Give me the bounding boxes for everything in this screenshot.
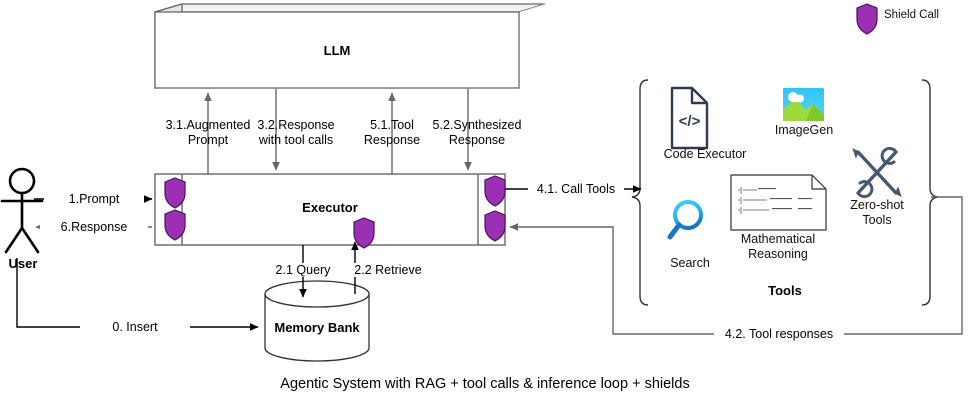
user-actor [2, 169, 42, 252]
code-document-icon: </> [672, 88, 707, 148]
tool-label-mathematical-reasoning-line2: Reasoning [718, 247, 838, 261]
llm-label: LLM [155, 43, 519, 58]
crossed-wrenches-icon [854, 148, 900, 196]
edge-insert [17, 258, 258, 327]
edge-label-synthesized-response-line2: Response [412, 133, 542, 147]
tool-label-zero-shot-tools-line2: Tools [837, 213, 917, 227]
diagram-caption: Agentic System with RAG + tool calls & i… [0, 376, 970, 392]
tool-label-search: Search [655, 256, 725, 270]
shield-legend-icon [857, 4, 877, 34]
tool-label-code-executor: Code Executor [646, 147, 764, 161]
diagram-canvas: </> [0, 0, 970, 411]
formula-document-icon [731, 175, 826, 230]
edge-label-prompt: 1.Prompt [44, 192, 144, 206]
tool-label-zero-shot-tools-line1: Zero-shot [837, 198, 917, 212]
edge-label-call-tools: 4.1. Call Tools [528, 182, 624, 196]
executor-label: Executor [182, 200, 478, 215]
tool-label-mathematical-reasoning-line1: Mathematical [718, 232, 838, 246]
edge-label-synthesized-response-line1: 5.2.Synthesized [412, 118, 542, 132]
tool-label-imagegen: ImageGen [763, 123, 845, 137]
edge-label-query: 2.1 Query [258, 263, 348, 277]
magnifier-icon [670, 202, 701, 237]
edge-label-insert: 0. Insert [80, 320, 190, 334]
edge-label-response: 6.Response [40, 220, 148, 234]
memory-bank-label: Memory Bank [265, 320, 369, 335]
legend-shield-label: Shield Call [884, 9, 939, 21]
svg-text:</>: </> [679, 113, 701, 130]
user-label: User [0, 256, 46, 271]
edge-label-retrieve: 2.2 Retrieve [340, 263, 436, 277]
edge-label-tool-responses: 4.2. Tool responses [714, 327, 844, 341]
image-icon [783, 88, 824, 121]
tools-group-label: Tools [715, 283, 855, 298]
